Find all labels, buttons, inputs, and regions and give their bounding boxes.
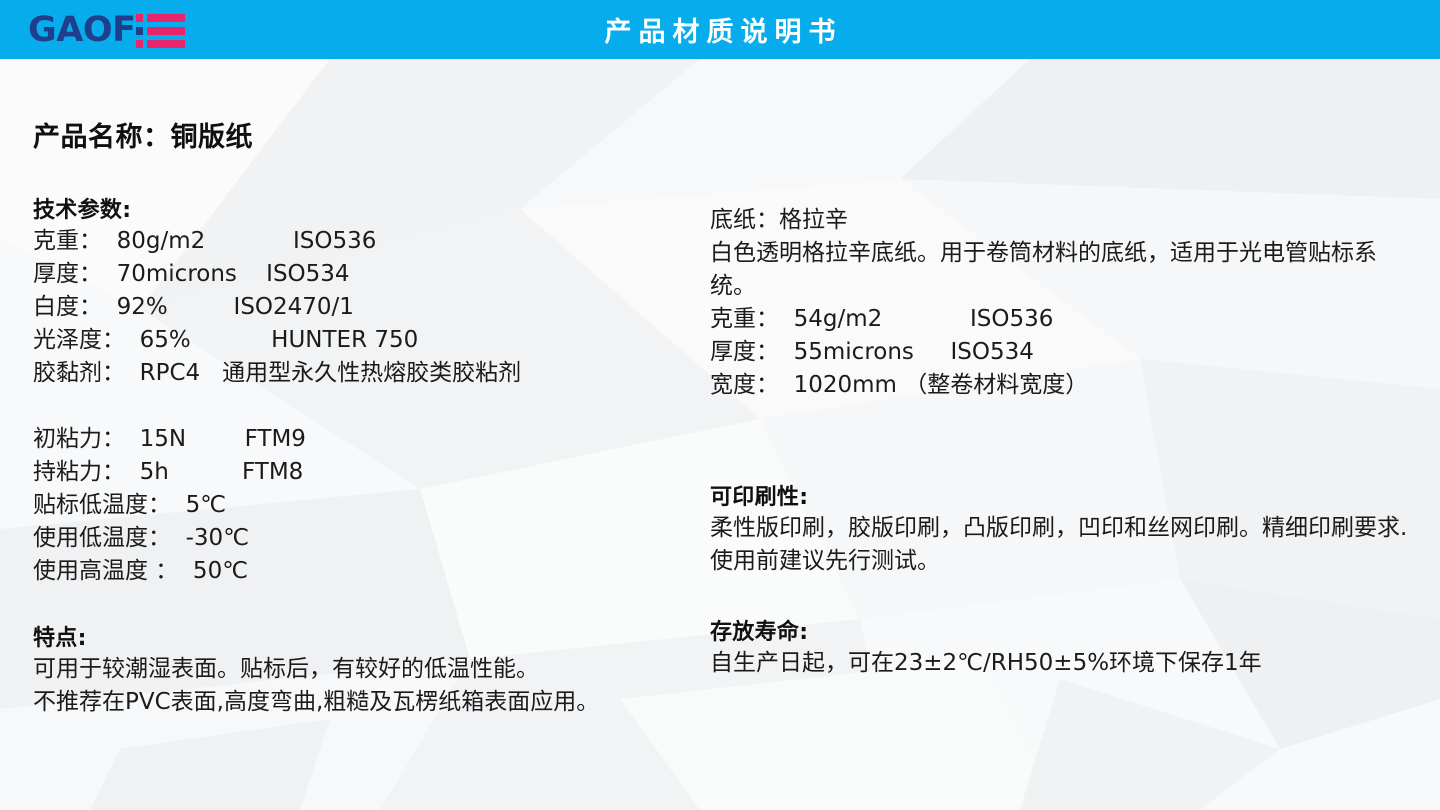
spec-row-brightness: 白度： 92% ISO2470/1 [33,291,521,324]
spec-row-min-application-temp: 贴标低温度： 5℃ [33,489,306,522]
spec-row-adhesive: 胶黏剂： RPC4 通用型永久性热熔胶类胶粘剂 [33,357,521,390]
spec-row-min-service-temp: 使用低温度： -30℃ [33,522,306,555]
features-row-2: 不推荐在PVC表面,高度弯曲,粗糙及瓦楞纸箱表面应用。 [33,686,599,719]
slide-page: GAOF 产品材质说明书 产品名称：铜版纸 技术参 [0,0,1440,810]
features-title: 特点: [33,620,599,652]
section-features: 特点: 可用于较潮湿表面。贴标后，有较好的低温性能。 不推荐在PVC表面,高度弯… [33,620,599,719]
spec-row-gloss: 光泽度： 65% HUNTER 750 [33,324,521,357]
printability-title: 可印刷性: [710,479,1422,511]
technical-parameters-title: 技术参数: [33,192,521,224]
spec-row-thickness: 厚度： 70microns ISO534 [33,258,521,291]
storage-life-body: 自生产日起，可在23±2℃/RH50±5%环境下保存1年 [710,647,1422,680]
storage-life-title: 存放寿命: [710,614,1422,646]
header-bar: GAOF 产品材质说明书 [0,0,1440,59]
section-storage-life: 存放寿命: 自生产日起，可在23±2℃/RH50±5%环境下保存1年 [710,614,1422,680]
section-technical-parameters: 技术参数: 克重： 80g/m2 ISO536 厚度： 70microns IS… [33,192,521,390]
spec-row-holding-power: 持粘力： 5h FTM8 [33,456,306,489]
spec-row-basis-weight: 克重： 80g/m2 ISO536 [33,225,521,258]
document-body: 产品名称：铜版纸 技术参数: 克重： 80g/m2 ISO536 厚度： 70m… [0,59,1440,810]
section-adhesion-properties: 初粘力： 15N FTM9 持粘力： 5h FTM8 贴标低温度： 5℃ 使用低… [33,423,306,588]
liner-heading: 底纸：格拉辛 [710,204,1422,237]
printability-body: 柔性版印刷，胶版印刷，凸版印刷，凹印和丝网印刷。精细印刷要求.使用前建议先行测试… [710,512,1422,578]
liner-row-basis-weight: 克重： 54g/m2 ISO536 [710,303,1422,336]
liner-row-width: 宽度： 1020mm （整卷材料宽度） [710,369,1422,402]
product-name: 产品名称：铜版纸 [33,115,253,154]
spec-row-max-service-temp: 使用高温度 ： 50℃ [33,555,306,588]
section-liner: 底纸：格拉辛 白色透明格拉辛底纸。用于卷筒材料的底纸，适用于光电管贴标系统。 克… [710,204,1422,402]
section-printability: 可印刷性: 柔性版印刷，胶版印刷，凸版印刷，凹印和丝网印刷。精细印刷要求.使用前… [710,479,1422,578]
features-row-1: 可用于较潮湿表面。贴标后，有较好的低温性能。 [33,653,599,686]
liner-row-thickness: 厚度： 55microns ISO534 [710,336,1422,369]
spec-row-initial-tack: 初粘力： 15N FTM9 [33,423,306,456]
liner-description: 白色透明格拉辛底纸。用于卷筒材料的底纸，适用于光电管贴标系统。 [710,237,1422,303]
page-title: 产品材质说明书 [0,0,1440,59]
